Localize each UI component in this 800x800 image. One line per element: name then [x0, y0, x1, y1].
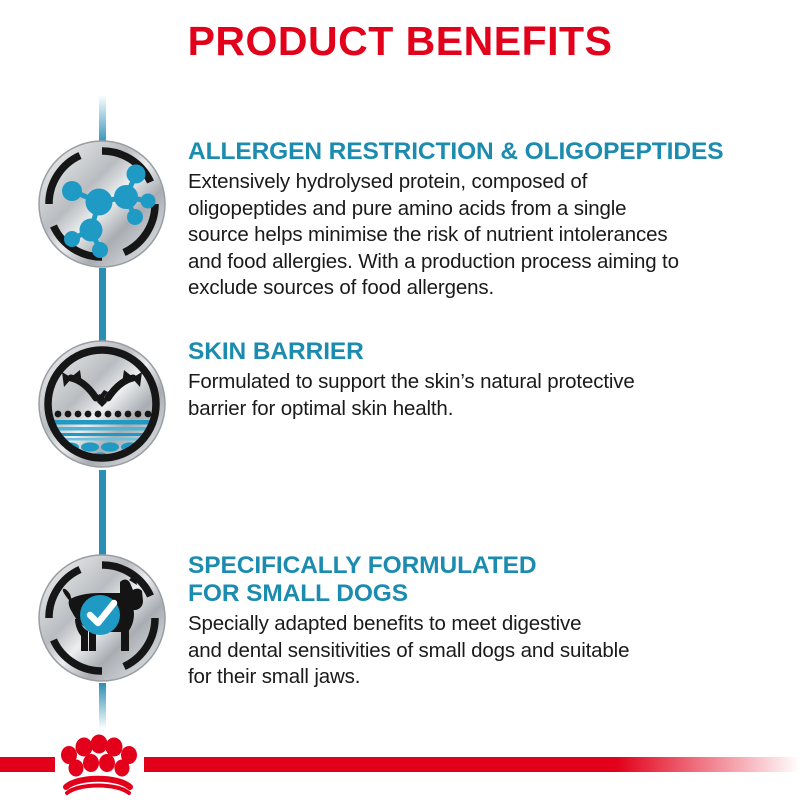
benefit-text-block: SPECIFICALLY FORMULATED FOR SMALL DOGS S… [188, 552, 788, 691]
benefit-heading: SKIN BARRIER [188, 338, 788, 366]
benefit-text-block: ALLERGEN RESTRICTION & OLIGOPEPTIDES Ext… [188, 138, 788, 302]
footer-bar-right [144, 757, 800, 772]
skin-barrier-icon [36, 338, 168, 470]
connector-rail-top [99, 88, 106, 145]
benefit-text-block: SKIN BARRIER Formulated to support the s… [188, 338, 788, 422]
benefit-body: Extensively hydrolysed protein, composed… [188, 169, 788, 302]
benefit-body: Formulated to support the skin’s natural… [188, 369, 788, 422]
connector-rail-segment-2 [99, 470, 106, 558]
connector-rail-segment-1 [99, 268, 106, 344]
benefit-heading: SPECIFICALLY FORMULATED FOR SMALL DOGS [188, 552, 788, 608]
benefit-body: Specially adapted benefits to meet diges… [188, 611, 788, 691]
connector-rail-bottom [99, 683, 106, 729]
molecule-icon [36, 138, 168, 270]
footer [0, 731, 800, 800]
footer-bar-left [0, 757, 55, 772]
benefit-heading: ALLERGEN RESTRICTION & OLIGOPEPTIDES [188, 138, 788, 166]
royal-canin-crown-logo [52, 733, 144, 795]
small-dog-check-icon [36, 552, 168, 684]
page-title: PRODUCT BENEFITS [0, 18, 800, 65]
